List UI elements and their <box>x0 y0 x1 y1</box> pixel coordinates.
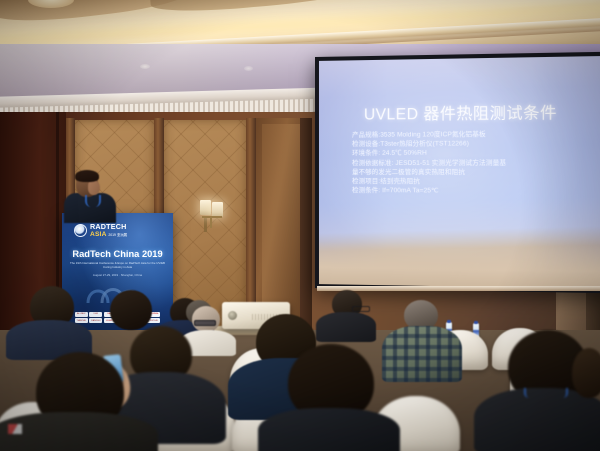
sconce-backplate <box>204 216 207 232</box>
attendee-lanyard <box>524 388 568 398</box>
slide-bullet-line: 环境条件: 24.5℃ 50%RH <box>352 148 594 158</box>
ceiling-downlight <box>140 64 150 69</box>
wall-sconce-lamp <box>212 202 223 217</box>
screen-bottom-bar <box>317 286 600 291</box>
slide-title: UVLED 器件热阻测试条件 <box>319 100 600 125</box>
glasses-icon <box>352 306 370 312</box>
wall-frame-post <box>300 118 312 336</box>
speaker-hair <box>75 170 99 182</box>
conference-room-photo: UVLED 器件热阻测试条件 产品规格:3535 Molding 120度ICP… <box>0 0 600 451</box>
sconce-arm <box>202 216 222 218</box>
brand-asia-suffix: 2019 亚洲展 <box>108 233 127 237</box>
audience-shoulders <box>258 408 400 451</box>
slide-bullet-line: 检测条件: If=700mA Ta=25℃ <box>352 186 594 196</box>
speaker-face <box>88 180 100 195</box>
event-date: August 27-29, 2019 · Shanghai, China <box>62 273 173 277</box>
wall-sconce-lamp <box>200 200 211 215</box>
slide-bullet-line: 检测项目:结到壳热阻抗 <box>352 177 594 187</box>
projector-lens <box>228 311 237 320</box>
slide-body: 产品规格:3535 Molding 120度ICP氮化铝基板 检测设备:T3st… <box>352 129 594 196</box>
audience-head <box>110 290 152 330</box>
brand-radtech: RADTECH <box>90 223 127 231</box>
event-subtitle: The 19th International Conference & Expo… <box>68 261 167 269</box>
audience-shoulders <box>0 412 158 451</box>
radtech-logo: RADTECH ASIA 2019 亚洲展 <box>74 223 127 239</box>
sponsor-logo: IGM <box>89 312 102 317</box>
brand-asia: ASIA 2019 亚洲展 <box>90 231 127 239</box>
flag-pin-icon <box>8 424 22 434</box>
globe-icon <box>74 224 87 237</box>
audience-head-grey <box>192 306 220 332</box>
speaker-lanyard <box>85 195 101 207</box>
audience-plaid-shirt <box>382 326 462 382</box>
event-title: RadTech China 2019 <box>62 249 173 259</box>
sconce-stem <box>210 217 212 228</box>
wall-door-inset <box>262 124 300 330</box>
projected-slide: UVLED 器件热阻测试条件 产品规格:3535 Molding 120度ICP… <box>319 56 600 289</box>
slide-bullet-line: 量不够的发光二极管的真实热阻和阻抗 <box>352 168 594 178</box>
sponsor-logo: JIANGSU <box>89 318 102 323</box>
audience-head <box>572 348 600 398</box>
bottle-cap <box>474 321 478 324</box>
sponsor-logo: ALLNEX <box>75 312 88 317</box>
projection-screen: UVLED 器件热阻测试条件 产品规格:3535 Molding 120度ICP… <box>315 52 600 294</box>
sponsor-logo: TIANZHU <box>75 318 88 323</box>
slide-bullet-line: 检测依据标准: JESD51-51 实测光学测试方法测量基 <box>352 158 594 168</box>
glasses-icon <box>194 320 216 326</box>
screen-lower-glare <box>319 242 600 289</box>
bottle-cap <box>447 320 451 323</box>
audience-shoulders <box>316 312 376 342</box>
ceiling-downlight <box>244 66 253 71</box>
